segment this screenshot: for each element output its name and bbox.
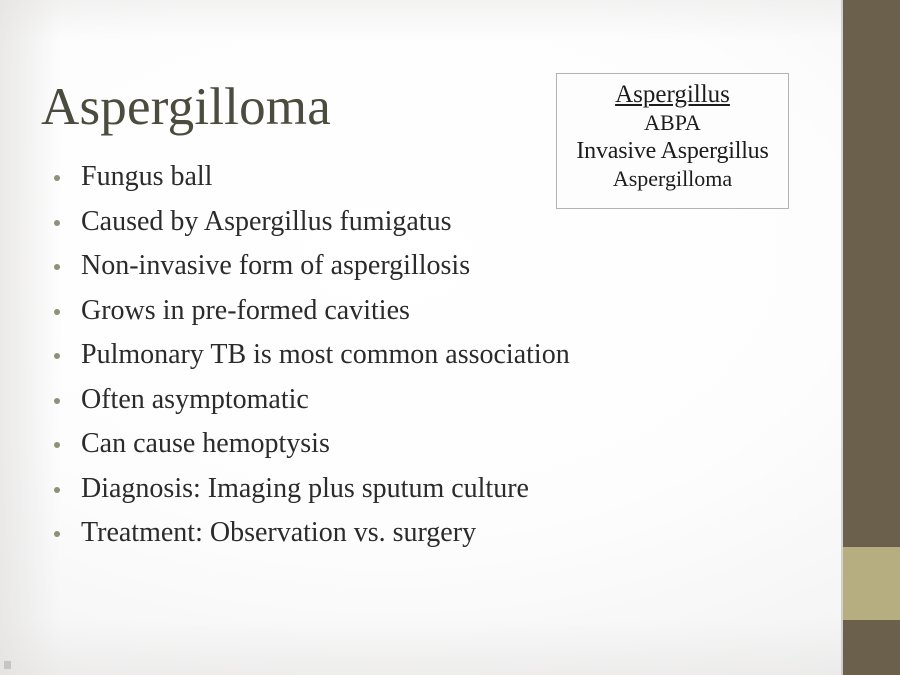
- bullet-list: Fungus ball Caused by Aspergillus fumiga…: [48, 158, 688, 559]
- bullet-dot-icon: [54, 487, 60, 493]
- list-item-label: Pulmonary TB is most common association: [81, 336, 570, 374]
- bullet-dot-icon: [54, 531, 60, 537]
- list-item-label: Diagnosis: Imaging plus sputum culture: [81, 470, 529, 508]
- callout-heading: Aspergillus: [615, 80, 730, 109]
- callout-item-invasive-aspergillus: Invasive Aspergillus: [576, 137, 768, 165]
- list-item-label: Treatment: Observation vs. surgery: [81, 514, 476, 552]
- decorative-right-bar-seam: [841, 0, 843, 675]
- list-item: Treatment: Observation vs. surgery: [48, 514, 688, 559]
- page-title: Aspergilloma: [41, 80, 331, 136]
- callout-item-abpa: ABPA: [644, 109, 701, 137]
- list-item: Non-invasive form of aspergillosis: [48, 247, 688, 292]
- decorative-right-bar-accent-band: [843, 547, 900, 620]
- list-item-label: Non-invasive form of aspergillosis: [81, 247, 470, 285]
- list-item-label: Grows in pre-formed cavities: [81, 292, 410, 330]
- slide-canvas: Aspergilloma Fungus ball Caused by Asper…: [0, 0, 900, 675]
- bullet-dot-icon: [54, 264, 60, 270]
- bullet-dot-icon: [54, 398, 60, 404]
- bullet-dot-icon: [54, 353, 60, 359]
- list-item: Can cause hemoptysis: [48, 425, 688, 470]
- bullet-dot-icon: [54, 309, 60, 315]
- list-item: Caused by Aspergillus fumigatus: [48, 203, 688, 248]
- bullet-dot-icon: [54, 442, 60, 448]
- aspergillus-callout-box: Aspergillus ABPA Invasive Aspergillus As…: [556, 73, 789, 209]
- list-item: Diagnosis: Imaging plus sputum culture: [48, 470, 688, 515]
- list-item-label: Fungus ball: [81, 158, 212, 196]
- corner-mark: [4, 661, 11, 669]
- callout-item-aspergilloma: Aspergilloma: [613, 165, 732, 193]
- list-item: Grows in pre-formed cavities: [48, 292, 688, 337]
- list-item-label: Can cause hemoptysis: [81, 425, 330, 463]
- list-item: Often asymptomatic: [48, 381, 688, 426]
- list-item-label: Caused by Aspergillus fumigatus: [81, 203, 451, 241]
- bullet-dot-icon: [54, 175, 60, 181]
- list-item-label: Often asymptomatic: [81, 381, 309, 419]
- list-item: Pulmonary TB is most common association: [48, 336, 688, 381]
- bullet-dot-icon: [54, 220, 60, 226]
